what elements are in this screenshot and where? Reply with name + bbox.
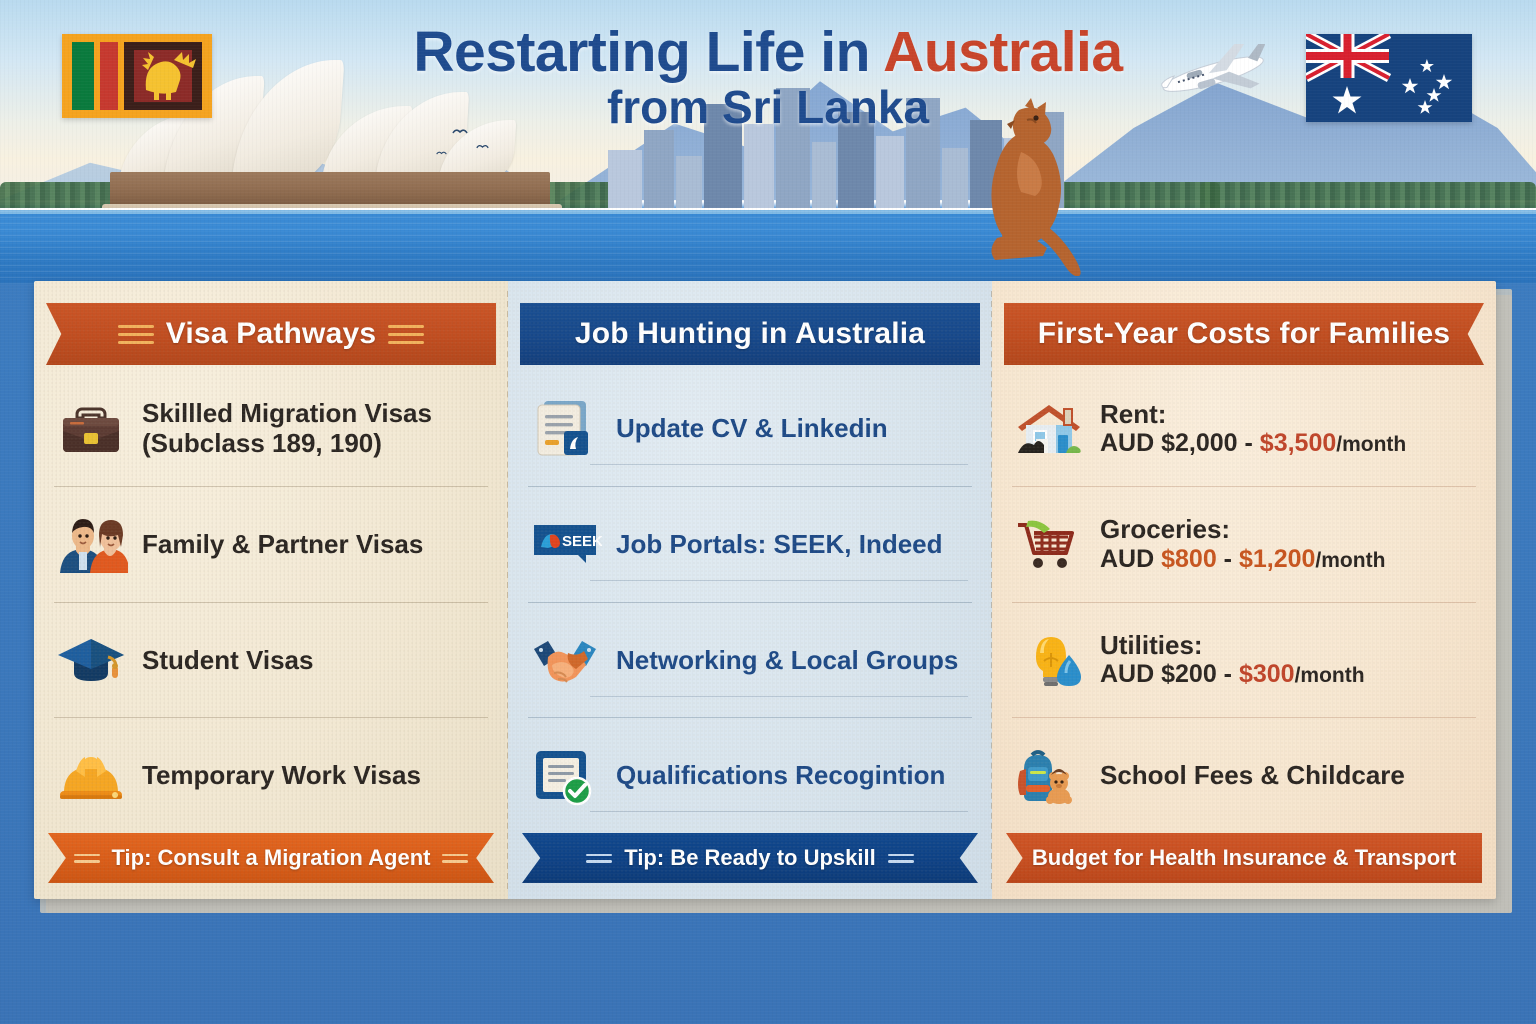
couple-icon bbox=[54, 507, 128, 581]
cost-label: Groceries: bbox=[1100, 514, 1230, 544]
opera-house-podium bbox=[110, 172, 550, 208]
tip-banner-visa-pathways: Tip: Consult a Migration Agent bbox=[48, 833, 494, 883]
row-hairline bbox=[590, 464, 968, 465]
list-item-label: Skillled Migration Visas bbox=[142, 398, 432, 428]
panels-board: Visa Pathways bbox=[34, 281, 1506, 909]
cost-value: AUD $200 - $300/month bbox=[1100, 660, 1365, 689]
list-item[interactable]: Rent: AUD $2,000 - $3,500/month bbox=[1012, 371, 1476, 486]
panel-header-label: Visa Pathways bbox=[166, 317, 377, 351]
infographic-canvas: Restarting Life in Australia from Sri La… bbox=[0, 0, 1536, 1024]
list-item[interactable]: Family & Partner Visas bbox=[54, 486, 488, 602]
list-item-label: Networking & Local Groups bbox=[616, 645, 958, 675]
row-hairline bbox=[590, 811, 968, 812]
row-hairline bbox=[590, 580, 968, 581]
panel-header-first-year-costs: First-Year Costs for Families bbox=[1004, 303, 1484, 365]
cost-prefix: AUD bbox=[1100, 545, 1161, 573]
list-item-text: Temporary Work Visas bbox=[142, 760, 421, 790]
tip-banner-job-hunting: Tip: Be Ready to Upskill bbox=[522, 833, 978, 883]
panel-header-label: Job Hunting in Australia bbox=[575, 317, 925, 351]
graduation-cap-icon bbox=[54, 623, 128, 697]
title-line-1-text: Restarting Life in bbox=[413, 20, 883, 84]
list-item[interactable]: Skillled Migration Visas (Subclass 189, … bbox=[54, 371, 488, 486]
list-item[interactable]: Temporary Work Visas bbox=[54, 717, 488, 833]
resume-document-icon bbox=[528, 391, 602, 465]
cost-prefix: AUD bbox=[1100, 429, 1161, 457]
list-item[interactable]: Networking & Local Groups bbox=[528, 602, 972, 718]
list-item[interactable]: SEEK Job Portals: SEEK, Indeed bbox=[528, 486, 972, 602]
list-item-sublabel: (Subclass 189, 190) bbox=[142, 428, 432, 458]
list-item[interactable]: Utilities: AUD $200 - $300/month bbox=[1012, 602, 1476, 718]
cost-unit: /month bbox=[1295, 664, 1365, 687]
cost-high: $1,200 bbox=[1239, 545, 1315, 573]
first-year-costs-list: Rent: AUD $2,000 - $3,500/month bbox=[992, 365, 1496, 833]
cost-dash: - bbox=[1217, 660, 1239, 688]
title-highlight-australia: Australia bbox=[883, 20, 1122, 84]
tip-label: Budget for Health Insurance & Transport bbox=[1032, 845, 1456, 871]
job-hunting-list: Update CV & Linkedin SEEK bbox=[508, 365, 992, 833]
ribbon-lines-icon bbox=[388, 325, 424, 344]
list-item[interactable]: Update CV & Linkedin bbox=[528, 371, 972, 486]
list-item-label: Job Portals: SEEK, Indeed bbox=[616, 529, 943, 559]
list-item[interactable]: Groceries: AUD $800 - $1,200/month bbox=[1012, 486, 1476, 602]
cost-high: $3,500 bbox=[1260, 429, 1336, 457]
list-item-label: Update CV & Linkedin bbox=[616, 413, 888, 443]
panel-header-job-hunting: Job Hunting in Australia bbox=[520, 303, 980, 365]
page-title: Restarting Life in Australia from Sri La… bbox=[0, 22, 1536, 133]
list-item-text: Family & Partner Visas bbox=[142, 529, 423, 559]
panel-header-visa-pathways: Visa Pathways bbox=[46, 303, 496, 365]
shopping-cart-icon bbox=[1012, 507, 1086, 581]
cost-dash: - bbox=[1217, 545, 1239, 573]
list-item[interactable]: Student Visas bbox=[54, 602, 488, 718]
cost-low: $800 bbox=[1161, 545, 1217, 573]
list-item-label: Student Visas bbox=[142, 645, 313, 675]
cost-label: Utilities: bbox=[1100, 630, 1203, 660]
row-hairline bbox=[590, 696, 968, 697]
panel-visa-pathways: Visa Pathways bbox=[34, 281, 508, 899]
tip-lines-icon bbox=[74, 854, 100, 863]
hard-hat-icon bbox=[54, 739, 128, 813]
tip-banner-first-year-costs: Budget for Health Insurance & Transport bbox=[1006, 833, 1482, 883]
tip-label: Tip: Consult a Migration Agent bbox=[112, 845, 431, 871]
list-item-text: Groceries: AUD $800 - $1,200/month bbox=[1100, 514, 1385, 574]
list-item-label: School Fees & Childcare bbox=[1100, 760, 1405, 790]
list-item-text: Networking & Local Groups bbox=[616, 645, 958, 675]
cost-value: AUD $2,000 - $3,500/month bbox=[1100, 429, 1406, 458]
cost-unit: /month bbox=[1315, 549, 1385, 572]
harbour-water bbox=[0, 208, 1536, 284]
lightbulb-water-icon bbox=[1012, 623, 1086, 697]
list-item[interactable]: School Fees & Childcare bbox=[1012, 717, 1476, 833]
cost-unit: /month bbox=[1336, 433, 1406, 456]
list-item-text: Qualifications Recogintion bbox=[616, 760, 945, 790]
cost-dash: - bbox=[1238, 429, 1260, 457]
handshake-icon bbox=[528, 623, 602, 697]
tip-lines-icon bbox=[442, 854, 468, 863]
list-item-label: Temporary Work Visas bbox=[142, 760, 421, 790]
panel-header-label: First-Year Costs for Families bbox=[1038, 317, 1451, 351]
seek-logo-icon: SEEK bbox=[528, 507, 602, 581]
list-item-label: Family & Partner Visas bbox=[142, 529, 423, 559]
cost-value: AUD $800 - $1,200/month bbox=[1100, 545, 1385, 574]
treeline-icon bbox=[1200, 182, 1536, 208]
tip-lines-icon bbox=[586, 854, 612, 863]
tip-lines-icon bbox=[888, 854, 914, 863]
list-item-text: Student Visas bbox=[142, 645, 313, 675]
panel-job-hunting: Job Hunting in Australia bbox=[508, 281, 992, 899]
panel-first-year-costs: First-Year Costs for Families bbox=[992, 281, 1496, 899]
cost-prefix: AUD bbox=[1100, 660, 1161, 688]
list-item[interactable]: Qualifications Recogintion bbox=[528, 717, 972, 833]
cost-low: $2,000 bbox=[1161, 429, 1237, 457]
list-item-label: Qualifications Recogintion bbox=[616, 760, 945, 790]
house-icon bbox=[1012, 391, 1086, 465]
title-line-1: Restarting Life in Australia bbox=[0, 22, 1536, 82]
ribbon-lines-icon bbox=[118, 325, 154, 344]
panels-row: Visa Pathways bbox=[34, 281, 1496, 899]
bird-icon bbox=[436, 142, 447, 150]
backpack-teddy-icon bbox=[1012, 739, 1086, 813]
list-item-text: Rent: AUD $2,000 - $3,500/month bbox=[1100, 399, 1406, 459]
bird-icon bbox=[476, 136, 489, 144]
list-item-text: Job Portals: SEEK, Indeed bbox=[616, 529, 943, 559]
svg-text:SEEK: SEEK bbox=[562, 533, 602, 550]
list-item-text: School Fees & Childcare bbox=[1100, 760, 1405, 790]
certificate-check-icon bbox=[528, 739, 602, 813]
title-line-2: from Sri Lanka bbox=[0, 82, 1536, 133]
cost-label: Rent: bbox=[1100, 399, 1166, 429]
cost-high: $300 bbox=[1239, 660, 1295, 688]
cost-low: $200 bbox=[1161, 660, 1217, 688]
list-item-text: Utilities: AUD $200 - $300/month bbox=[1100, 630, 1365, 690]
visa-pathways-list: Skillled Migration Visas (Subclass 189, … bbox=[34, 365, 508, 833]
list-item-text: Update CV & Linkedin bbox=[616, 413, 888, 443]
tip-label: Tip: Be Ready to Upskill bbox=[624, 845, 875, 871]
briefcase-icon bbox=[54, 391, 128, 465]
list-item-text: Skillled Migration Visas (Subclass 189, … bbox=[142, 398, 432, 459]
